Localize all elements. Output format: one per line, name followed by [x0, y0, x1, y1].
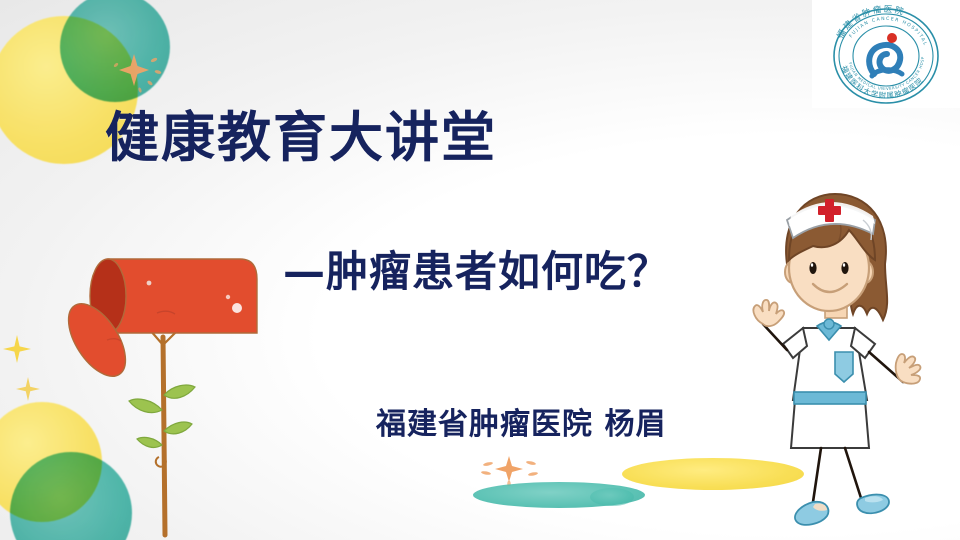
- cartoon-nurse-illustration: [735, 168, 935, 540]
- red-mailbox-illustration: [45, 245, 275, 540]
- logo-bottom-text-en: Fujian Medical University Cancer Hospita…: [0, 0, 1, 1]
- ellipse-teal-small-left: [590, 488, 634, 506]
- presentation-slide: 福建省肿瘤医院 FUJIAN CANCER HOSPITAL 福建医科大学附属肿…: [0, 0, 960, 540]
- logo-bottom-text: 福建医科大学附属肿瘤医院: [0, 0, 1, 1]
- sparkle-yellow-left: [0, 332, 34, 366]
- sparkle-orange-bottom: [478, 452, 540, 486]
- page-subtitle: —肿瘤患者如何吃？: [283, 249, 670, 295]
- logo-top-text-en: Fujian Cancer Hospital: [0, 0, 1, 1]
- presenter-line: 福建省肿瘤医院 杨眉: [376, 408, 666, 441]
- page-title: 健康教育大讲堂: [105, 108, 497, 167]
- sparkle-yellow-mid-left: [14, 375, 42, 403]
- sparkle-orange-top-left: [104, 46, 164, 94]
- logo-top-text: 福建省肿瘤医院: [0, 0, 1, 1]
- hospital-logo: 福建省肿瘤医院 FUJIAN CANCER HOSPITAL 福建医科大学附属肿…: [812, 0, 960, 108]
